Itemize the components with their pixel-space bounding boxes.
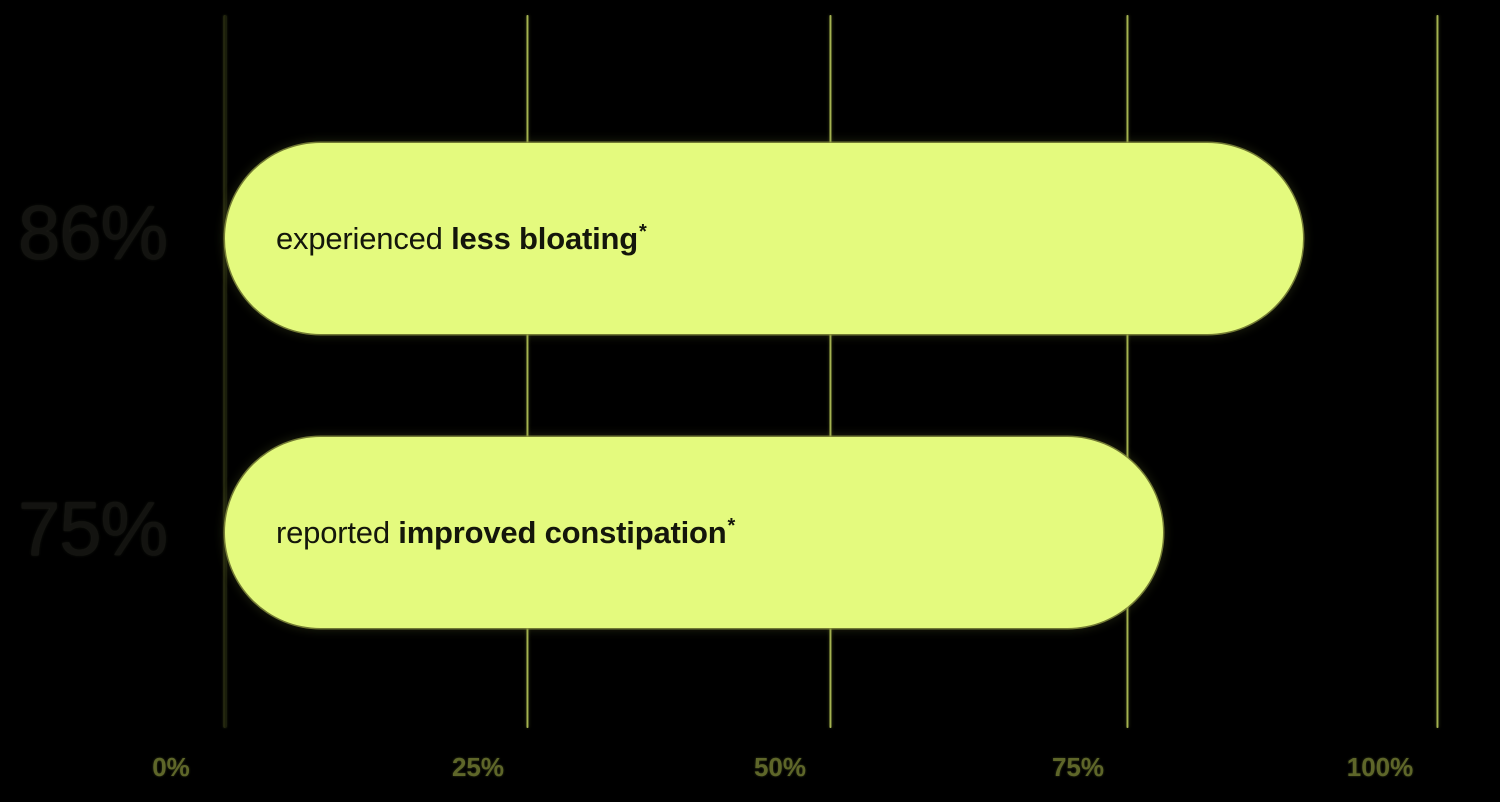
gridline-100 — [1436, 15, 1439, 728]
bar-label-prefix-bloating: experienced — [276, 221, 451, 256]
tick-label-75: 75% — [1052, 752, 1104, 783]
tick-label-50: 50% — [754, 752, 806, 783]
tick-label-25: 25% — [452, 752, 504, 783]
bar-label-emphasis-constipation: improved constipation — [398, 515, 726, 550]
bar-label-emphasis-bloating: less bloating — [451, 221, 638, 256]
value-label-bloating: 86% — [18, 196, 208, 272]
tick-label-0: 0% — [152, 752, 190, 783]
value-label-constipation: 75% — [18, 492, 208, 568]
tick-label-100: 100% — [1347, 752, 1414, 783]
bar-label-improved-constipation: reported improved constipation* — [276, 517, 735, 548]
bar-label-less-bloating: experienced less bloating* — [276, 223, 647, 254]
gridline-0 — [223, 15, 227, 728]
bar-less-bloating: experienced less bloating* — [225, 143, 1303, 334]
bar-label-prefix-constipation: reported — [276, 515, 398, 550]
gridline-75 — [1126, 15, 1129, 728]
footnote-asterisk-bloating: * — [639, 221, 647, 243]
bar-chart: 86% experienced less bloating* 75% repor… — [0, 0, 1500, 802]
footnote-asterisk-constipation: * — [728, 515, 736, 537]
bar-improved-constipation: reported improved constipation* — [225, 437, 1163, 628]
